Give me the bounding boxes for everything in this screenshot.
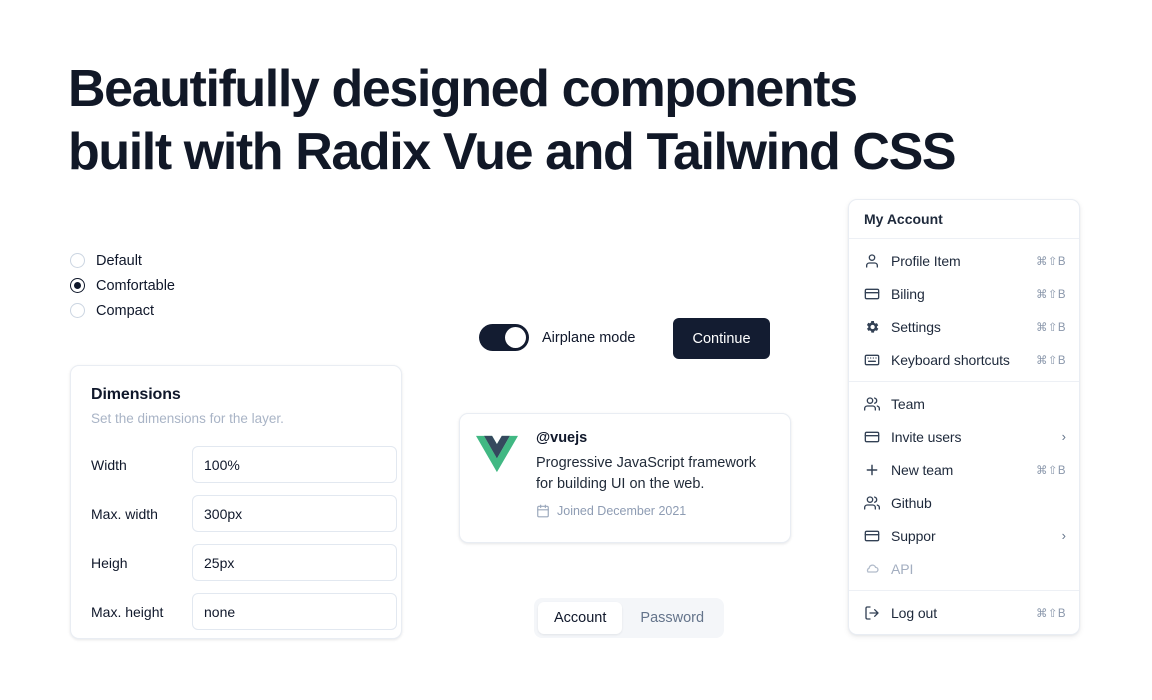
radio-option-label: Compact	[96, 303, 154, 319]
menu-item-shortcut: ⌘⇧B	[1036, 463, 1066, 477]
menu-item-team[interactable]: Team	[849, 387, 1079, 420]
credit-card-icon	[863, 428, 880, 445]
switch-knob	[505, 327, 526, 348]
hover-card-meta-text: Joined December 2021	[557, 504, 686, 518]
menu-item-label: Invite users	[891, 429, 1051, 445]
dimensions-field-width: Width	[91, 446, 381, 483]
credit-card-icon	[863, 527, 880, 544]
airplane-mode-label: Airplane mode	[542, 330, 636, 346]
user-icon	[863, 252, 880, 269]
menu-item-new-team[interactable]: New team ⌘⇧B	[849, 453, 1079, 486]
menu-header-label: My Account	[849, 200, 1079, 238]
menu-group-session: Log out ⌘⇧B	[849, 591, 1079, 634]
menu-item-settings[interactable]: Settings ⌘⇧B	[849, 310, 1079, 343]
menu-item-label: Biling	[891, 286, 1025, 302]
cloud-icon	[863, 560, 880, 577]
radio-option-compact[interactable]: Compact	[70, 298, 290, 323]
gear-icon	[863, 318, 880, 335]
menu-item-shortcut: ⌘⇧B	[1036, 287, 1066, 301]
page-title: Beautifully designed components built wi…	[68, 58, 1028, 184]
field-label: Width	[91, 457, 192, 473]
menu-item-label: Profile Item	[891, 253, 1025, 269]
menu-item-profile[interactable]: Profile Item ⌘⇧B	[849, 244, 1079, 277]
max-width-input[interactable]	[192, 495, 397, 532]
vuejs-hover-card: @vuejs Progressive JavaScript framework …	[459, 413, 791, 543]
menu-item-invite-users[interactable]: Invite users ›	[849, 420, 1079, 453]
airplane-mode-row[interactable]: Airplane mode	[479, 324, 636, 351]
users-icon	[863, 494, 880, 511]
menu-item-log-out[interactable]: Log out ⌘⇧B	[849, 596, 1079, 629]
menu-item-shortcut: ⌘⇧B	[1036, 320, 1066, 334]
dimensions-field-height: Heigh	[91, 544, 381, 581]
menu-item-support[interactable]: Suppor ›	[849, 519, 1079, 552]
radio-option-label: Comfortable	[96, 278, 175, 294]
menu-item-label: Settings	[891, 319, 1025, 335]
page-title-line-1: Beautifully designed components	[68, 58, 1028, 121]
page-title-line-2: built with Radix Vue and Tailwind CSS	[68, 121, 1028, 184]
menu-item-label: Github	[891, 495, 1055, 511]
menu-group-account: Profile Item ⌘⇧B Biling ⌘⇧B Sett	[849, 239, 1079, 381]
width-input[interactable]	[192, 446, 397, 483]
chevron-right-icon: ›	[1062, 529, 1066, 542]
menu-item-api: API	[849, 552, 1079, 585]
chevron-right-icon: ›	[1062, 430, 1066, 443]
calendar-icon	[536, 504, 550, 518]
radio-option-default[interactable]: Default	[70, 248, 290, 273]
menu-item-shortcut: ⌘⇧B	[1036, 254, 1066, 268]
density-radio-group[interactable]: Default Comfortable Compact	[70, 248, 290, 323]
field-label: Max. width	[91, 506, 192, 522]
users-icon	[863, 395, 880, 412]
settings-tabs[interactable]: Account Password	[534, 598, 724, 638]
menu-group-team: Team Invite users › New team	[849, 382, 1079, 590]
dimensions-field-list: Width Max. width Heigh Max. height	[91, 446, 381, 630]
menu-item-shortcut: ⌘⇧B	[1036, 606, 1066, 620]
page-root: Beautifully designed components built wi…	[0, 0, 1152, 700]
radio-indicator-icon[interactable]	[70, 303, 85, 318]
dimensions-field-max-width: Max. width	[91, 495, 381, 532]
menu-item-billing[interactable]: Biling ⌘⇧B	[849, 277, 1079, 310]
menu-item-shortcut: ⌘⇧B	[1036, 353, 1066, 367]
radio-indicator-icon[interactable]	[70, 253, 85, 268]
credit-card-icon	[863, 285, 880, 302]
dimensions-card-subtitle: Set the dimensions for the layer.	[91, 411, 381, 426]
menu-item-label: API	[891, 561, 1055, 577]
field-label: Max. height	[91, 604, 192, 620]
menu-item-label: Team	[891, 396, 1055, 412]
vue-logo-icon	[476, 433, 518, 475]
dimensions-card-title: Dimensions	[91, 386, 381, 404]
menu-item-label: Suppor	[891, 528, 1051, 544]
dimensions-field-max-height: Max. height	[91, 593, 381, 630]
menu-item-label: Keyboard shortcuts	[891, 352, 1025, 368]
radio-option-comfortable[interactable]: Comfortable	[70, 273, 290, 298]
menu-item-label: Log out	[891, 605, 1025, 621]
logout-icon	[863, 604, 880, 621]
hover-card-description: Progressive JavaScript framework for bui…	[536, 453, 774, 495]
account-dropdown-menu: My Account Profile Item ⌘⇧B Biling	[848, 199, 1080, 635]
radio-option-label: Default	[96, 253, 142, 269]
max-height-input[interactable]	[192, 593, 397, 630]
hover-card-handle: @vuejs	[536, 430, 774, 446]
continue-button[interactable]: Continue	[673, 318, 770, 359]
menu-item-label: New team	[891, 462, 1025, 478]
dimensions-card: Dimensions Set the dimensions for the la…	[70, 365, 402, 639]
tab-account[interactable]: Account	[538, 602, 622, 634]
hover-card-meta: Joined December 2021	[536, 504, 774, 518]
plus-icon	[863, 461, 880, 478]
airplane-mode-switch[interactable]	[479, 324, 529, 351]
tab-password[interactable]: Password	[624, 602, 720, 634]
keyboard-icon	[863, 351, 880, 368]
hover-card-body: @vuejs Progressive JavaScript framework …	[536, 430, 774, 526]
height-input[interactable]	[192, 544, 397, 581]
menu-item-github[interactable]: Github	[849, 486, 1079, 519]
field-label: Heigh	[91, 555, 192, 571]
menu-item-keyboard-shortcuts[interactable]: Keyboard shortcuts ⌘⇧B	[849, 343, 1079, 376]
radio-indicator-icon[interactable]	[70, 278, 85, 293]
